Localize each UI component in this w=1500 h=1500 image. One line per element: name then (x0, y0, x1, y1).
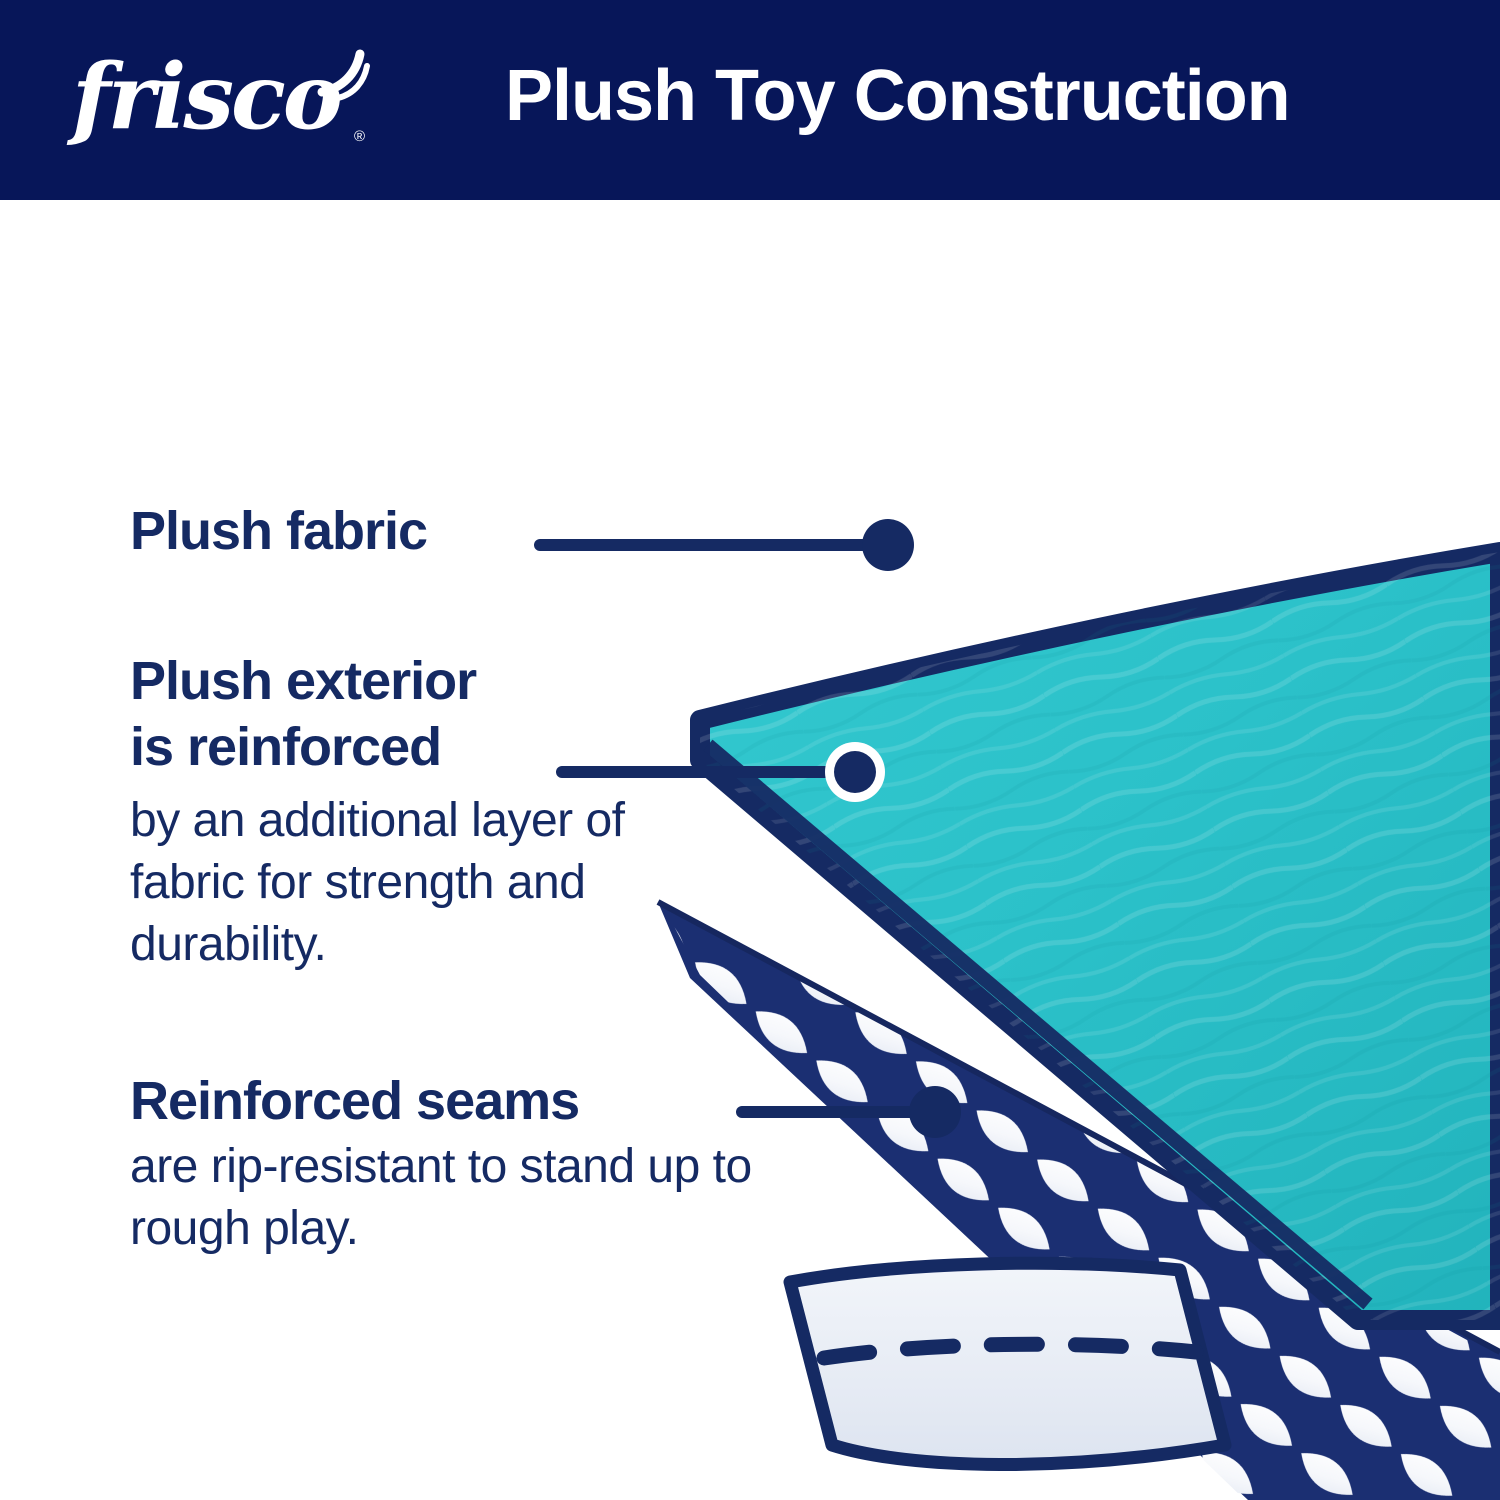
callout-reinforced-seams: Reinforced seams are rip-resistant to st… (130, 1068, 820, 1260)
callout-heading-reinforced-line2: is reinforced (130, 714, 730, 780)
frisco-logo-swoosh-icon (308, 48, 378, 108)
registered-trademark-mark: ® (354, 128, 365, 145)
callout-plush-fabric: Plush fabric (130, 498, 427, 564)
header-band: frisco ® Plush Toy Construction (0, 0, 1500, 200)
infographic-page: frisco ® Plush Toy Construction (0, 0, 1500, 1500)
page-title: Plush Toy Construction (505, 46, 1405, 146)
callout-plush-exterior-reinforced: Plush exterior is reinforced by an addit… (130, 648, 730, 976)
reinforced-seam-flap (790, 1263, 1225, 1464)
callout-heading-seams: Reinforced seams (130, 1068, 820, 1134)
frisco-logo: frisco ® (72, 42, 382, 154)
callout-body-reinforced: by an additional layer of fabric for str… (130, 790, 730, 976)
leader-dot-reinforced (834, 751, 876, 793)
leader-dot-plush-fabric (862, 519, 914, 571)
leader-dot-seams (909, 1086, 961, 1138)
callout-heading-plush-fabric: Plush fabric (130, 498, 427, 564)
callout-heading-reinforced-line1: Plush exterior (130, 648, 730, 714)
callout-body-seams: are rip-resistant to stand up to rough p… (130, 1136, 820, 1260)
